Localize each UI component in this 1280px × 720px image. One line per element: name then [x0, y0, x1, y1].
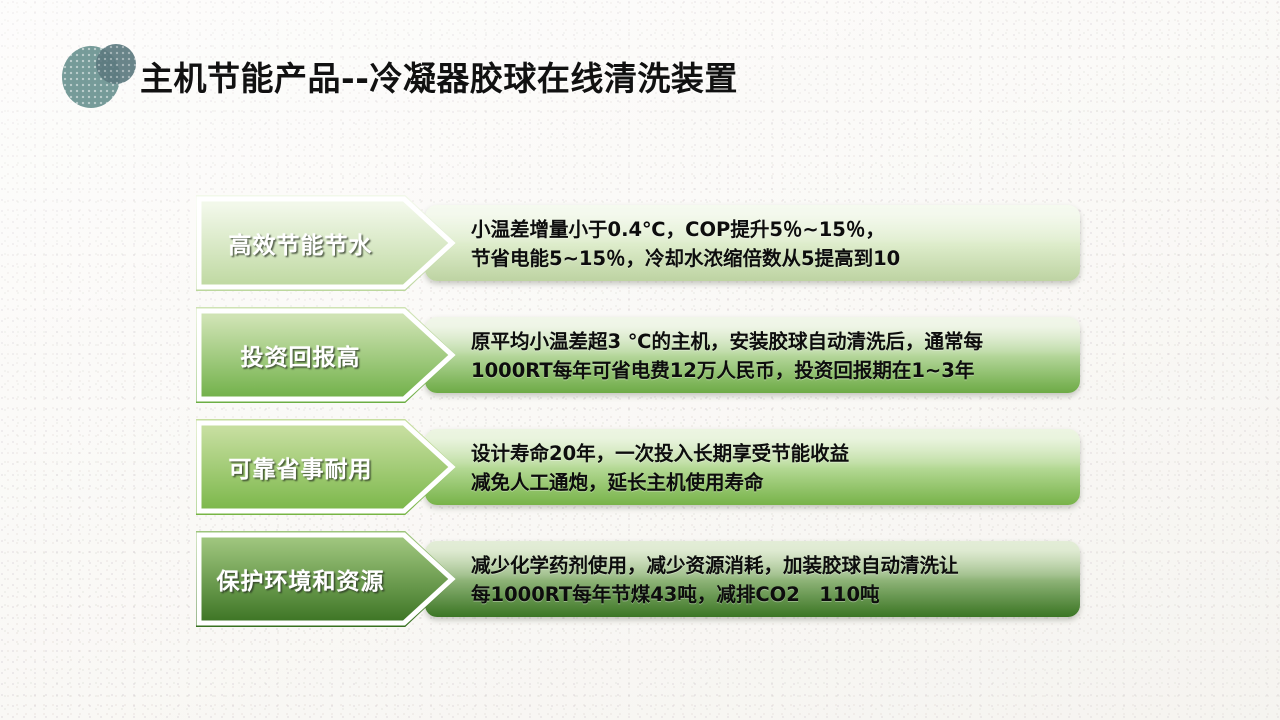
feature-row: 设计寿命20年，一次投入长期享受节能收益 减免人工通炮，延长主机使用寿命可靠省事…	[196, 419, 1080, 515]
feature-row-label-chevron[interactable]: 高效节能节水	[196, 195, 456, 291]
feature-row-text: 原平均小温差超3 ℃的主机，安装胶球自动清洗后，通常每 1000RT每年可省电费…	[471, 327, 1071, 385]
feature-row-label-text: 可靠省事耐用	[196, 419, 405, 515]
feature-row: 减少化学药剂使用，减少资源消耗，加装胶球自动清洗让 每1000RT每年节煤43吨…	[196, 531, 1080, 627]
feature-row-label-chevron[interactable]: 投资回报高	[196, 307, 456, 403]
feature-row: 小温差增量小于0.4℃，COP提升5％~15％， 节省电能5~15％，冷却水浓缩…	[196, 195, 1080, 291]
feature-row-label-text: 高效节能节水	[196, 195, 405, 291]
feature-row-label-chevron[interactable]: 保护环境和资源	[196, 531, 456, 627]
feature-rows: 小温差增量小于0.4℃，COP提升5％~15％， 节省电能5~15％，冷却水浓缩…	[0, 0, 1280, 720]
feature-row-label-text: 投资回报高	[196, 307, 405, 403]
feature-row-text: 减少化学药剂使用，减少资源消耗，加装胶球自动清洗让 每1000RT每年节煤43吨…	[471, 551, 1071, 609]
feature-row-label-chevron[interactable]: 可靠省事耐用	[196, 419, 456, 515]
feature-row-text: 设计寿命20年，一次投入长期享受节能收益 减免人工通炮，延长主机使用寿命	[471, 439, 1071, 497]
feature-row-label-text: 保护环境和资源	[196, 531, 405, 627]
feature-row-text: 小温差增量小于0.4℃，COP提升5％~15％， 节省电能5~15％，冷却水浓缩…	[471, 215, 1071, 273]
feature-row: 原平均小温差超3 ℃的主机，安装胶球自动清洗后，通常每 1000RT每年可省电费…	[196, 307, 1080, 403]
